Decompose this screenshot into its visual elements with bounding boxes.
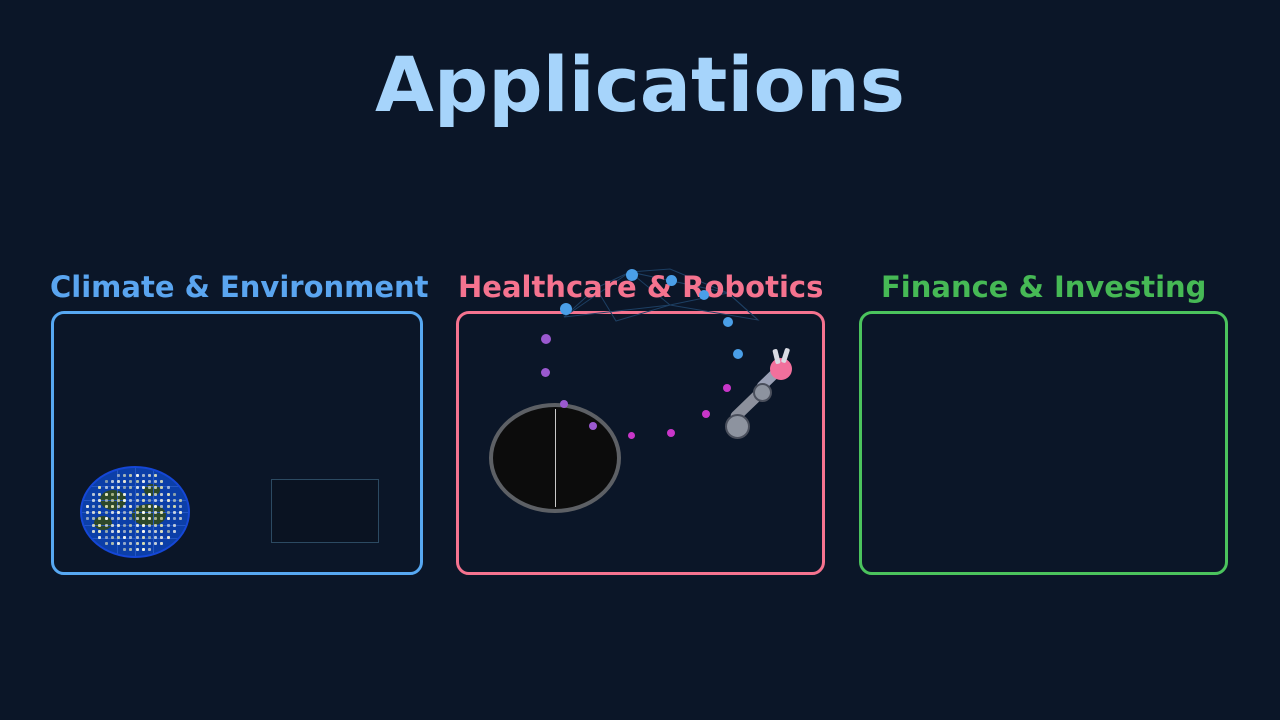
- robotic-arm-icon: [725, 352, 805, 452]
- particle-dot: [560, 400, 568, 408]
- particle-dot: [628, 432, 635, 439]
- arm-joint: [725, 414, 750, 439]
- climate-bars: [276, 500, 374, 538]
- panel-title-finance: Finance & Investing: [881, 273, 1206, 302]
- particle-dot: [589, 422, 597, 430]
- page-title: Applications: [0, 47, 1280, 123]
- particle-dot: [723, 384, 731, 392]
- particle-dot: [667, 429, 675, 437]
- globe-data-dots: [82, 468, 188, 556]
- network-dot: [626, 269, 638, 281]
- panel-title-healthcare: Healthcare & Robotics: [458, 273, 823, 302]
- network-dot: [666, 275, 677, 286]
- particle-dot: [541, 334, 551, 344]
- network-dot: [560, 303, 572, 315]
- climate-bar-chart-icon: [271, 479, 379, 543]
- slide-canvas: Applications Climate & Environment Healt…: [0, 0, 1280, 720]
- brain-midline: [555, 409, 556, 507]
- brain-scan-icon: [489, 403, 621, 513]
- network-dot: [699, 290, 709, 300]
- network-dot: [723, 317, 733, 327]
- arm-joint: [753, 383, 772, 402]
- panel-title-climate: Climate & Environment: [50, 273, 429, 302]
- globe-icon: [80, 466, 190, 558]
- particle-dot: [541, 368, 550, 377]
- network-dot: [733, 349, 743, 359]
- target-rings-icon: [642, 492, 714, 550]
- panel-finance[interactable]: [859, 311, 1228, 575]
- particle-dot: [702, 410, 710, 418]
